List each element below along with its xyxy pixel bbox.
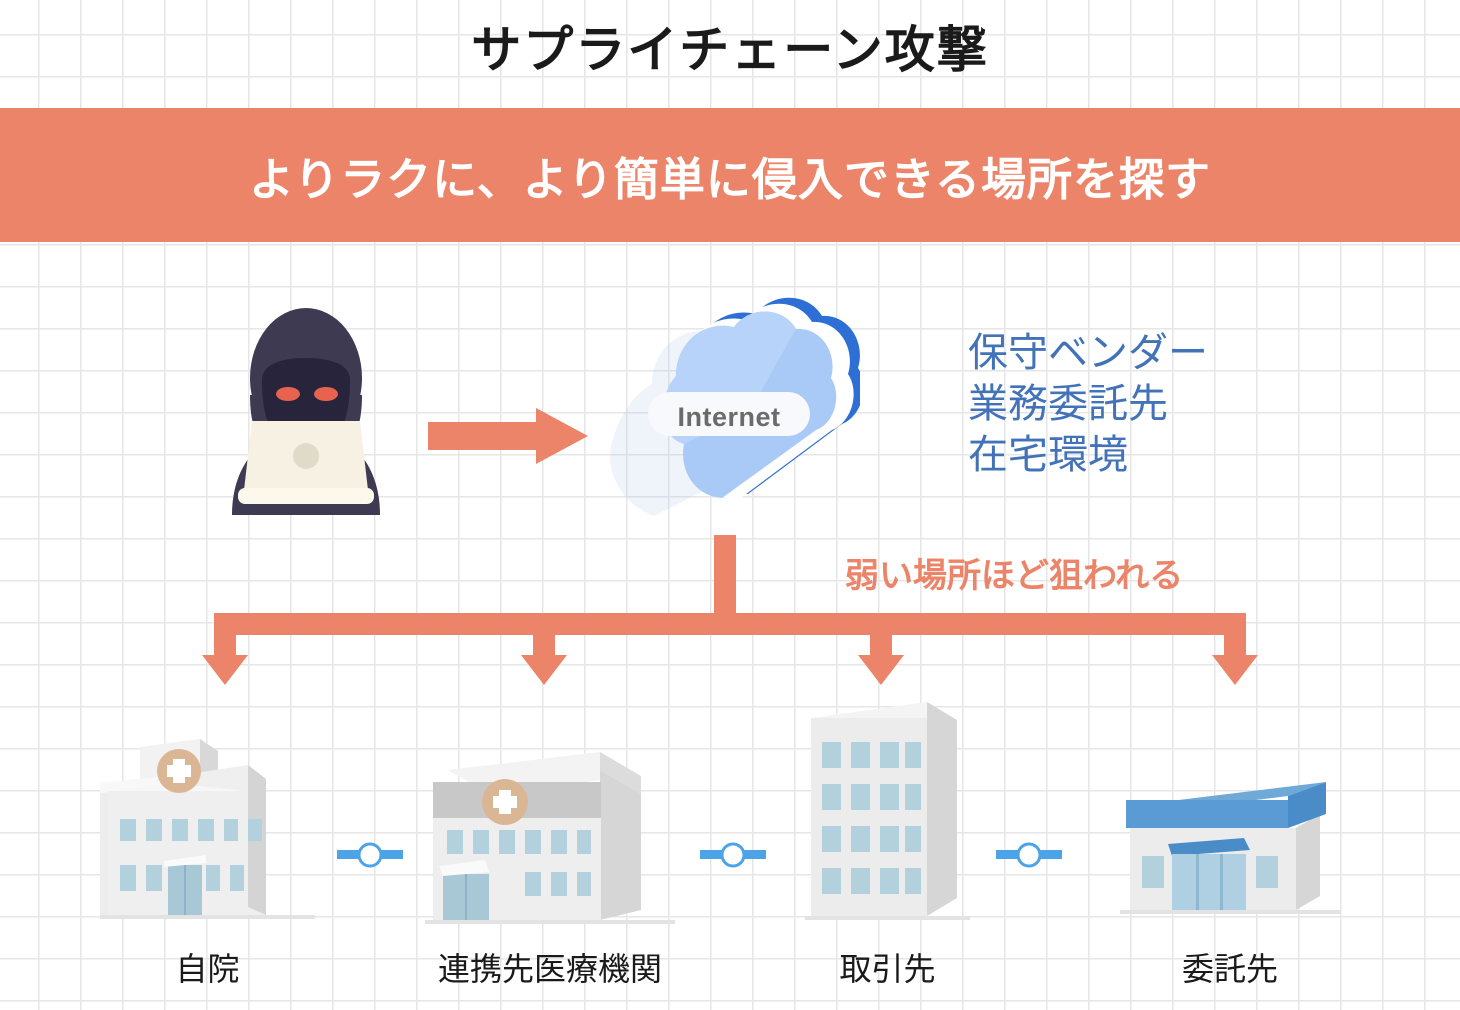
vendor-line-1: 保守ベンダー [968,328,1208,379]
branching-down-arrows-icon [180,535,1280,685]
vendor-line-3: 在宅環境 [968,430,1208,481]
target-label-contractor: 委託先 [1115,944,1345,990]
page-title: サプライチェーン攻撃 [0,4,1460,96]
banner-text: よりラクに、より簡単に侵入できる場所を探す [249,143,1211,208]
shop-building-icon [1120,770,1340,915]
vendor-line-2: 業務委託先 [968,379,1208,430]
network-link-icon [337,840,403,870]
network-link-icon [996,840,1062,870]
hacker-icon [196,300,416,515]
vendor-list: 保守ベンダー 業務委託先 在宅環境 [968,328,1208,481]
target-label-own-hospital: 自院 [100,944,315,990]
hospital-building-icon [100,735,315,925]
office-tower-icon [805,700,970,925]
target-label-partner-hospital: 連携先医療機関 [400,944,700,990]
network-link-icon [700,840,766,870]
attack-arrow-icon [428,408,588,464]
clinic-building-icon [425,740,675,925]
banner: よりラクに、より簡単に侵入できる場所を探す [0,108,1460,242]
target-label-business-partner: 取引先 [790,944,985,990]
diagram-canvas: サプライチェーン攻撃 よりラクに、より簡単に侵入できる場所を探す [0,0,1460,1010]
cloud-icon [598,296,860,536]
